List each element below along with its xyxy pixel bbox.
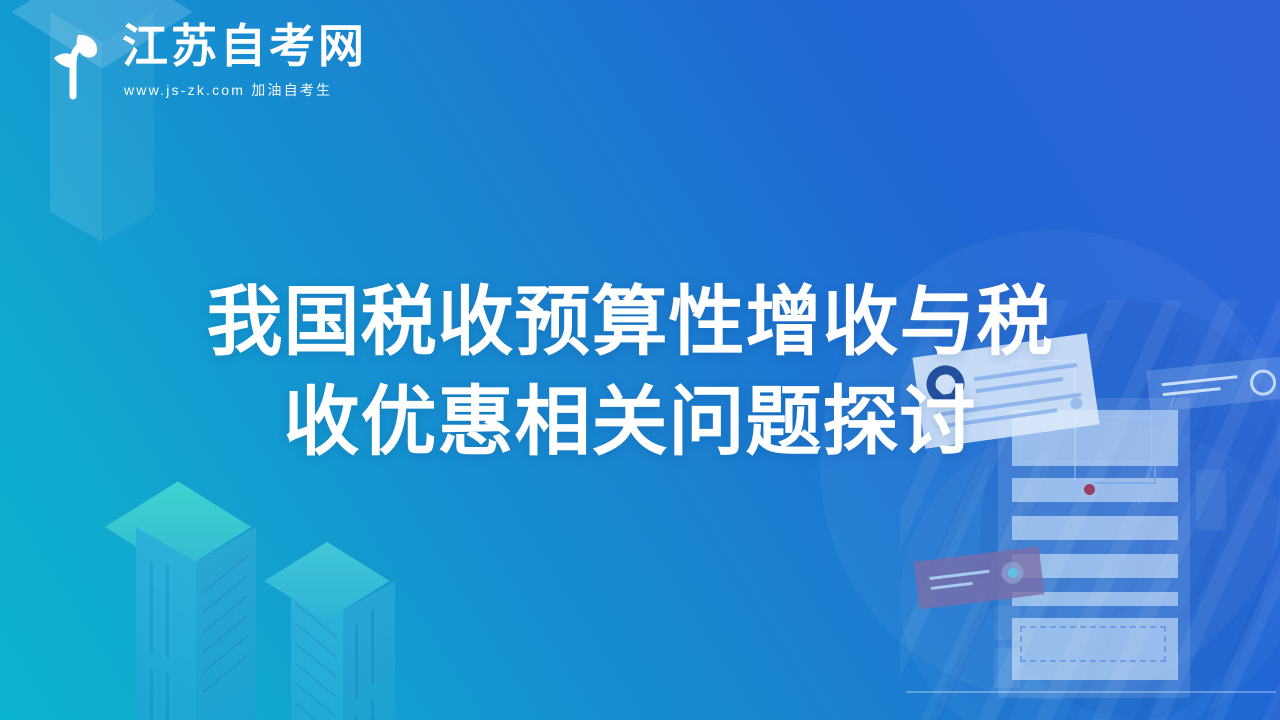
document-bar bbox=[1012, 516, 1178, 540]
banner-canvas: 江苏自考网 www.js-zk.com 加油自考生 bbox=[0, 0, 1280, 720]
logo-title: 江苏自考网 bbox=[122, 22, 367, 70]
page-title: 我国税收预算性增收与税 收优惠相关问题探讨 bbox=[150, 272, 1110, 473]
document-bar bbox=[1012, 478, 1178, 502]
dashed-placeholder-box bbox=[1020, 626, 1166, 662]
document-bar bbox=[1012, 618, 1178, 680]
highlight-card bbox=[914, 547, 1045, 610]
connector-line bbox=[1138, 390, 1177, 505]
document-bar bbox=[1012, 554, 1178, 578]
document-bar bbox=[1012, 592, 1178, 606]
logo-subtitle: www.js-zk.com 加油自考生 bbox=[124, 80, 367, 100]
marker-dot bbox=[1084, 484, 1095, 495]
ring-icon bbox=[1249, 368, 1278, 397]
connector-line bbox=[1154, 466, 1156, 484]
isometric-building bbox=[96, 485, 296, 720]
decorative-square bbox=[994, 648, 1020, 688]
ring-icon bbox=[1000, 561, 1025, 586]
decorative-square bbox=[994, 606, 1020, 640]
ground-line bbox=[906, 691, 1276, 693]
decorative-square bbox=[1196, 470, 1226, 530]
info-banner-card bbox=[1146, 355, 1280, 412]
isometric-building bbox=[255, 545, 435, 720]
site-logo[interactable]: 江苏自考网 www.js-zk.com 加油自考生 bbox=[28, 18, 367, 104]
sprout-icon bbox=[28, 18, 114, 104]
